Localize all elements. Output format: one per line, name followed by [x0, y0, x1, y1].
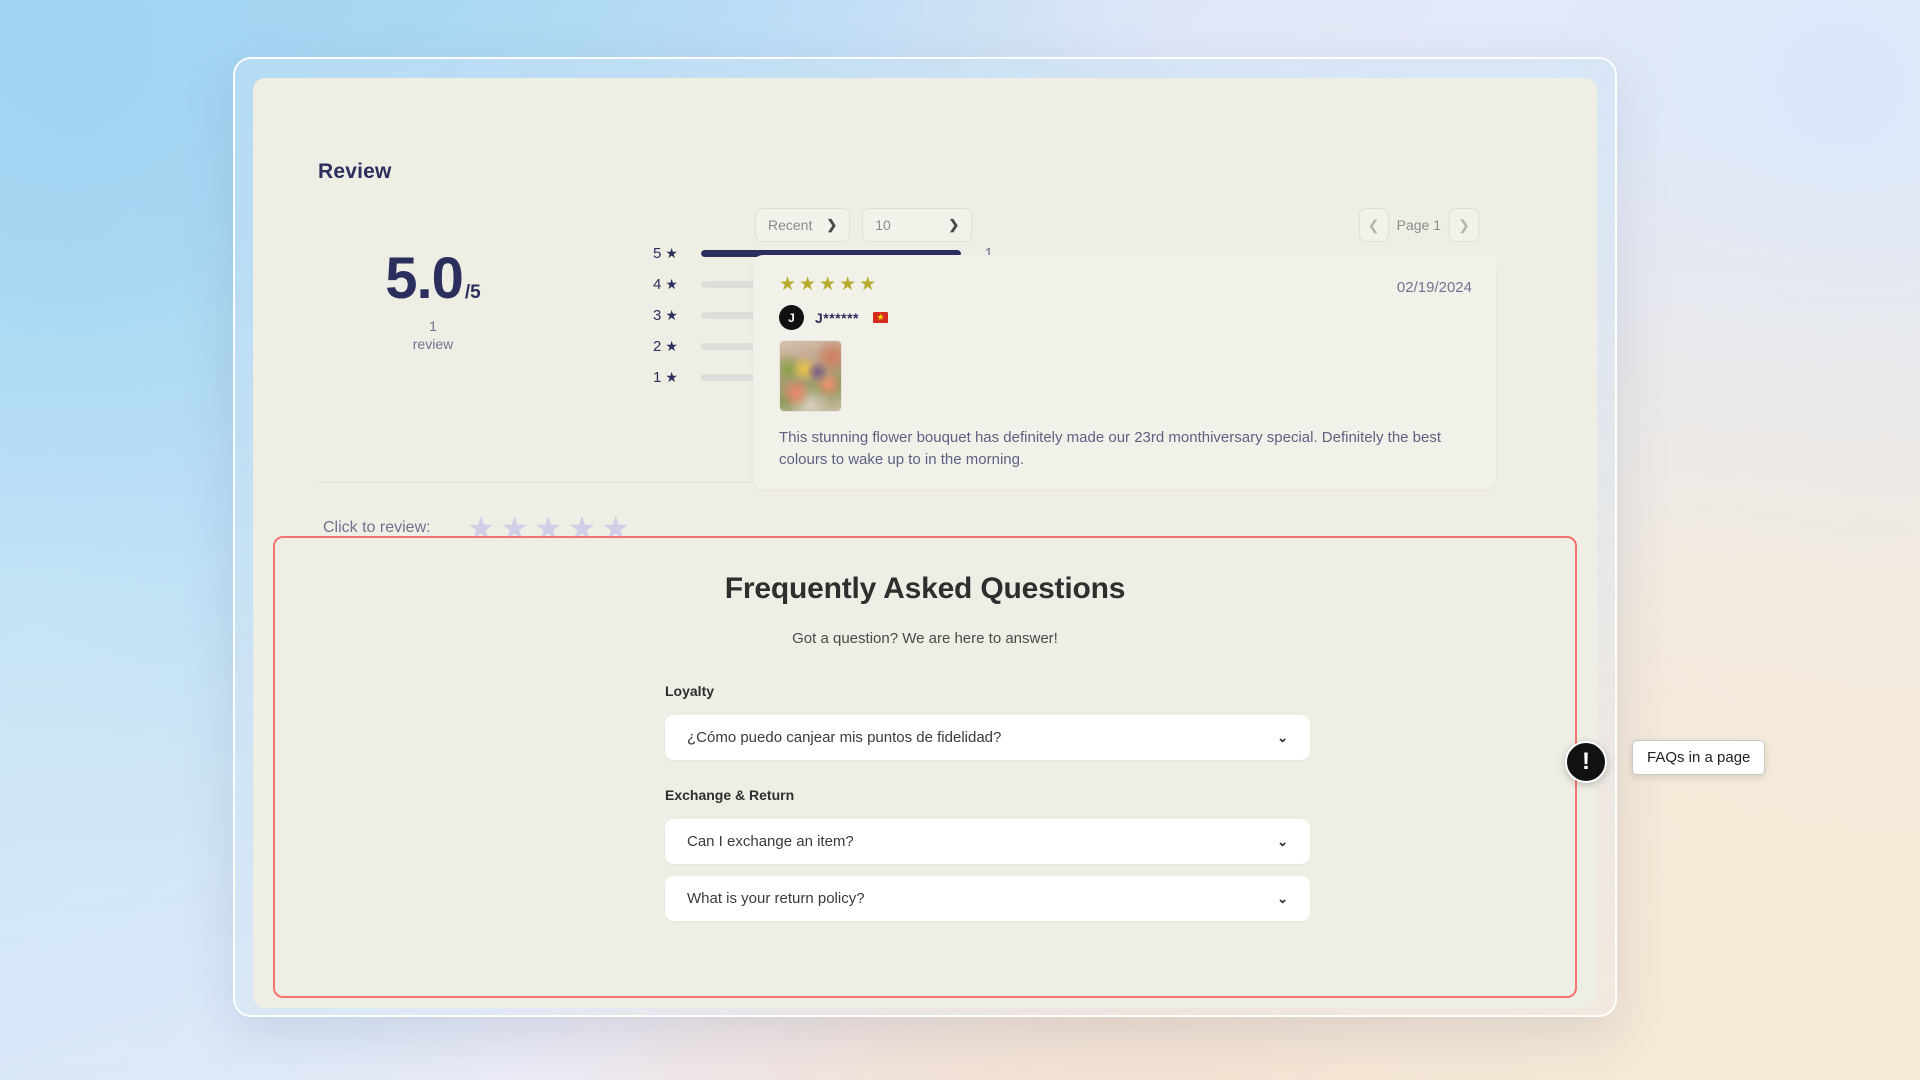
- faq-subtitle: Got a question? We are here to answer!: [275, 630, 1575, 647]
- rating-row-1-number: 1: [653, 369, 661, 386]
- pagination: ❮ Page 1 ❯: [1359, 208, 1479, 242]
- star-icon: ★: [799, 275, 816, 294]
- average-score-value: 5.0: [385, 250, 463, 308]
- sort-dropdown-value: Recent: [768, 217, 812, 233]
- review-count-number: 1: [429, 318, 437, 334]
- country-flag-icon: ★: [873, 312, 888, 323]
- review-card-author: J J****** ★: [779, 305, 888, 330]
- star-icon: ★: [665, 276, 678, 293]
- annotation-tooltip: FAQs in a page: [1632, 740, 1765, 775]
- click-to-review-label: Click to review:: [323, 519, 431, 537]
- review-toolbar: Recent ❯ 10 ❯: [755, 208, 972, 242]
- average-score-block: 5.0 /5 1 review: [328, 250, 538, 353]
- star-icon: ★: [779, 275, 796, 294]
- rating-row-5-label: 5 ★: [653, 245, 695, 262]
- score-line: 5.0 /5: [328, 250, 538, 308]
- avatar: J: [779, 305, 804, 330]
- pagination-next-button[interactable]: ❯: [1449, 208, 1479, 242]
- faq-group-loyalty: Loyalty ¿Cómo puedo canjear mis puntos d…: [665, 683, 1310, 772]
- review-card-text: This stunning flower bouquet has definit…: [779, 427, 1462, 471]
- review-count-label: review: [413, 336, 453, 352]
- rating-row-3-label: 3 ★: [653, 307, 695, 324]
- annotation-exclamation-icon[interactable]: !: [1565, 741, 1607, 783]
- faq-item-exchange[interactable]: Can I exchange an item? ⌄: [665, 819, 1310, 864]
- faq-category-label: Loyalty: [665, 683, 1310, 699]
- faq-question: ¿Cómo puedo canjear mis puntos de fideli…: [687, 729, 1001, 746]
- chevron-right-icon: ❯: [1458, 217, 1470, 234]
- star-icon: ★: [665, 307, 678, 324]
- faq-question: Can I exchange an item?: [687, 833, 854, 850]
- faq-item-loyalty-points[interactable]: ¿Cómo puedo canjear mis puntos de fideli…: [665, 715, 1310, 760]
- review-card-author-name: J******: [815, 310, 859, 326]
- star-icon: ★: [665, 338, 678, 355]
- rating-row-1-label: 1 ★: [653, 369, 695, 386]
- review-section: Review 5.0 /5 1 review 5 ★ 1: [253, 78, 1597, 518]
- star-icon: ★: [859, 275, 876, 294]
- pagination-page-label: Page 1: [1397, 217, 1441, 233]
- rating-row-2-label: 2 ★: [653, 338, 695, 355]
- star-icon: ★: [819, 275, 836, 294]
- faq-item-return-policy[interactable]: What is your return policy? ⌄: [665, 876, 1310, 921]
- faq-question: What is your return policy?: [687, 890, 865, 907]
- faq-section: Frequently Asked Questions Got a questio…: [273, 536, 1577, 998]
- faq-title: Frequently Asked Questions: [275, 572, 1575, 606]
- page-size-dropdown[interactable]: 10 ❯: [862, 208, 972, 242]
- pagination-prev-button[interactable]: ❮: [1359, 208, 1389, 242]
- review-card-date: 02/19/2024: [1397, 279, 1472, 296]
- chevron-right-icon: ❯: [826, 217, 837, 233]
- chevron-down-icon: ⌄: [1277, 891, 1288, 907]
- faq-group-exchange-return: Exchange & Return Can I exchange an item…: [665, 787, 1310, 933]
- chevron-down-icon: ⌄: [1277, 834, 1288, 850]
- rating-row-4-number: 4: [653, 276, 661, 293]
- sort-dropdown[interactable]: Recent ❯: [755, 208, 850, 242]
- chevron-down-icon: ⌄: [1277, 730, 1288, 746]
- score-denominator: /5: [465, 282, 481, 304]
- rating-row-2-number: 2: [653, 338, 661, 355]
- review-photo-thumbnail[interactable]: [779, 340, 842, 412]
- review-card-rating: ★ ★ ★ ★ ★: [779, 275, 876, 294]
- page-canvas: Review 5.0 /5 1 review 5 ★ 1: [253, 78, 1597, 1008]
- rating-row-4-label: 4 ★: [653, 276, 695, 293]
- rating-row-5-number: 5: [653, 245, 661, 262]
- page-size-dropdown-value: 10: [875, 217, 891, 233]
- review-count: 1 review: [328, 318, 538, 353]
- star-icon: ★: [665, 245, 678, 262]
- chevron-right-icon: ❯: [948, 217, 959, 233]
- review-card: ★ ★ ★ ★ ★ 02/19/2024 J J****** ★ This st…: [753, 255, 1496, 489]
- chevron-left-icon: ❮: [1368, 217, 1380, 234]
- faq-category-label: Exchange & Return: [665, 787, 1310, 803]
- star-icon: ★: [665, 369, 678, 386]
- star-icon: ★: [839, 275, 856, 294]
- review-section-title: Review: [318, 160, 392, 184]
- rating-row-3-number: 3: [653, 307, 661, 324]
